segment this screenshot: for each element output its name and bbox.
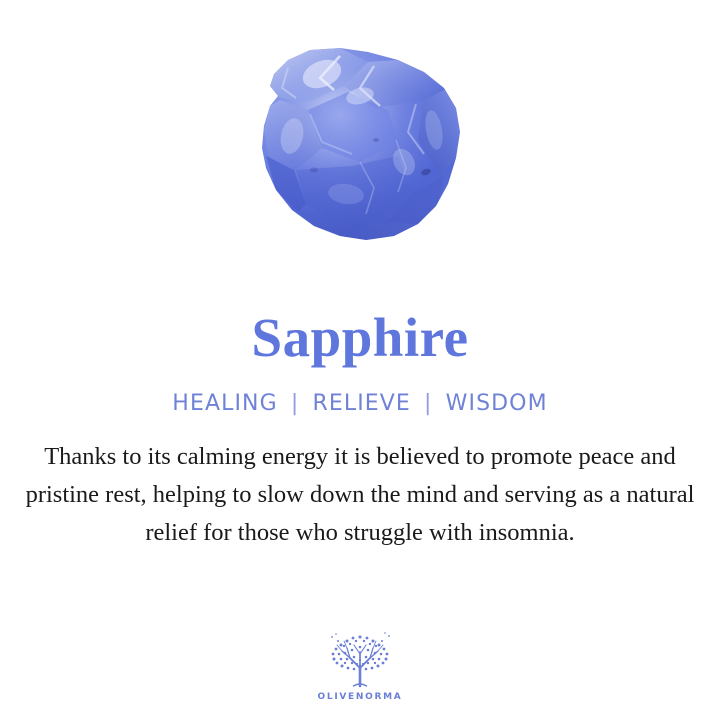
keyword-healing: HEALING [172, 391, 277, 416]
tree-of-life-icon [323, 628, 397, 690]
brand-name: OLIVENORMA [318, 692, 403, 702]
raw-sapphire-crystal-icon [248, 44, 466, 252]
gemstone-image-area [0, 0, 720, 268]
gemstone-keywords: HEALING | RELIEVE | WISDOM [172, 391, 547, 416]
gemstone-photo [248, 44, 466, 252]
gemstone-info-card: Sapphire HEALING | RELIEVE | WISDOM Than… [0, 0, 720, 720]
keyword-wisdom: WISDOM [446, 391, 548, 416]
keyword-relieve: RELIEVE [312, 391, 410, 416]
gemstone-title: Sapphire [252, 310, 469, 365]
keyword-separator-2: | [419, 391, 438, 416]
keyword-separator-1: | [286, 391, 305, 416]
gemstone-description: Thanks to its calming energy it is belie… [22, 438, 698, 552]
brand-logo-block: OLIVENORMA [0, 628, 720, 702]
